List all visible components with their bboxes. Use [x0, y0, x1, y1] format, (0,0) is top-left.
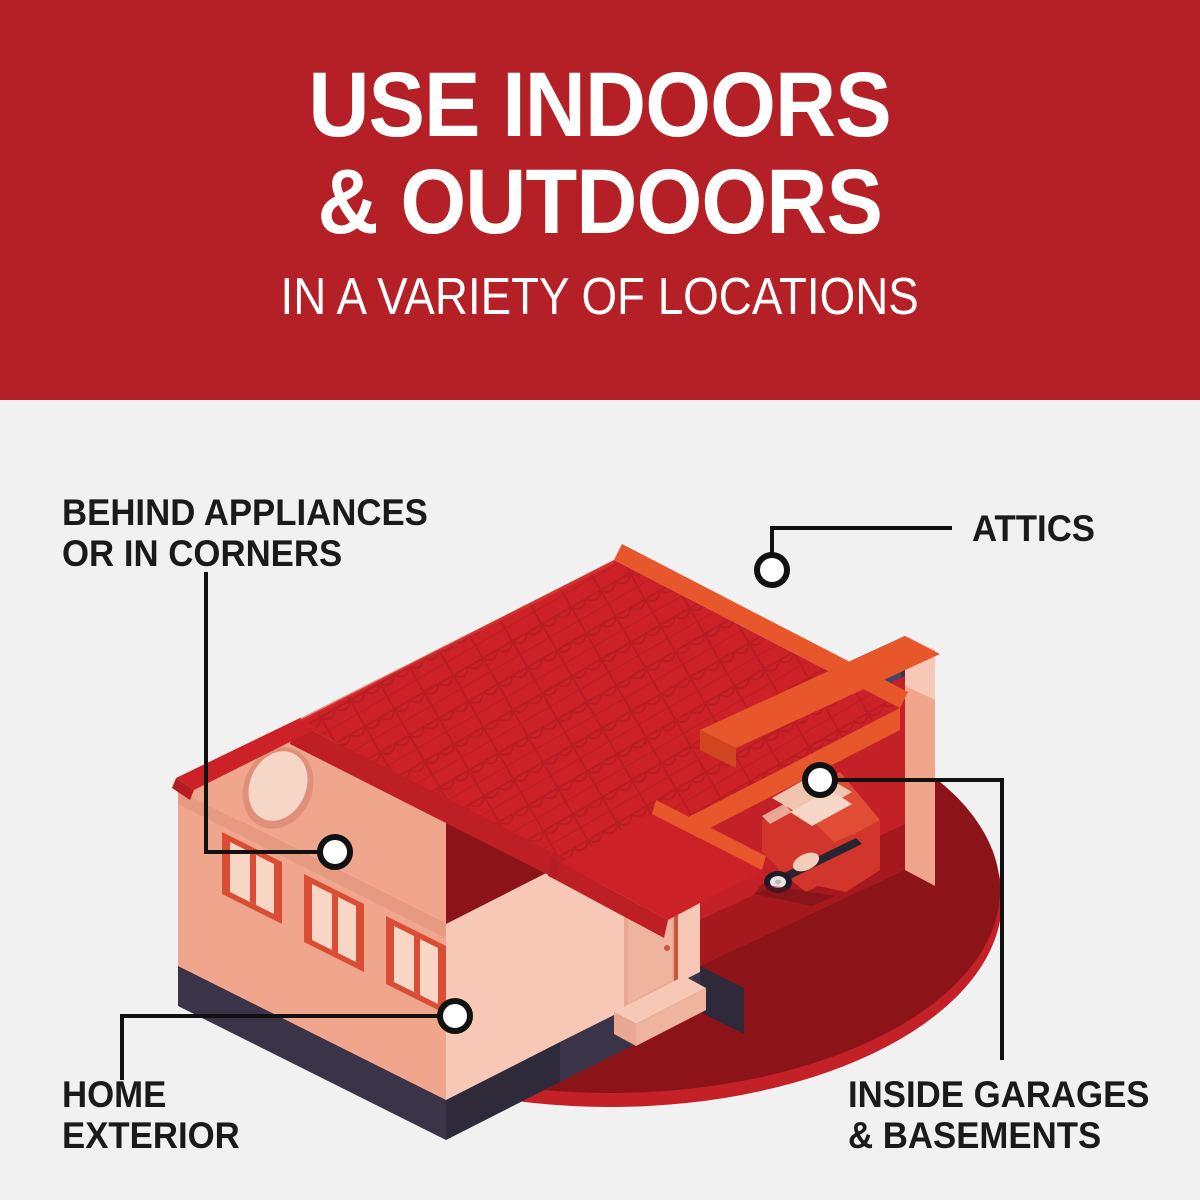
- marker-home-exterior[interactable]: [440, 1001, 470, 1031]
- marker-attics[interactable]: [757, 555, 787, 585]
- banner-title-line-2: & OUTDOORS: [318, 159, 882, 246]
- infographic-page: USE INDOORS & OUTDOORS IN A VARIETY OF L…: [0, 0, 1200, 1200]
- callout-label-attics: ATTICS: [972, 508, 1095, 549]
- callout-inside-garages-line-2: & BASEMENTS: [848, 1115, 1149, 1156]
- callout-home-exterior-line-1: HOME: [62, 1074, 240, 1115]
- header-banner: USE INDOORS & OUTDOORS IN A VARIETY OF L…: [0, 0, 1200, 400]
- callout-behind-appliances-line-1: BEHIND APPLIANCES: [62, 492, 428, 533]
- callout-behind-appliances-line-2: OR IN CORNERS: [62, 533, 428, 574]
- callout-label-home-exterior: HOME EXTERIOR: [62, 1074, 240, 1157]
- marker-behind-appliances[interactable]: [320, 837, 350, 867]
- marker-inside-garages[interactable]: [805, 765, 835, 795]
- callout-inside-garages-line-1: INSIDE GARAGES: [848, 1074, 1149, 1115]
- callout-attics-line-1: ATTICS: [972, 508, 1095, 549]
- callout-home-exterior-line-2: EXTERIOR: [62, 1115, 240, 1156]
- callout-label-behind-appliances: BEHIND APPLIANCES OR IN CORNERS: [62, 492, 428, 575]
- callout-label-inside-garages: INSIDE GARAGES & BASEMENTS: [848, 1074, 1149, 1157]
- banner-subtitle: IN A VARIETY OF LOCATIONS: [281, 271, 919, 323]
- leader-attics: [772, 528, 952, 570]
- banner-title-line-1: USE INDOORS: [309, 62, 891, 149]
